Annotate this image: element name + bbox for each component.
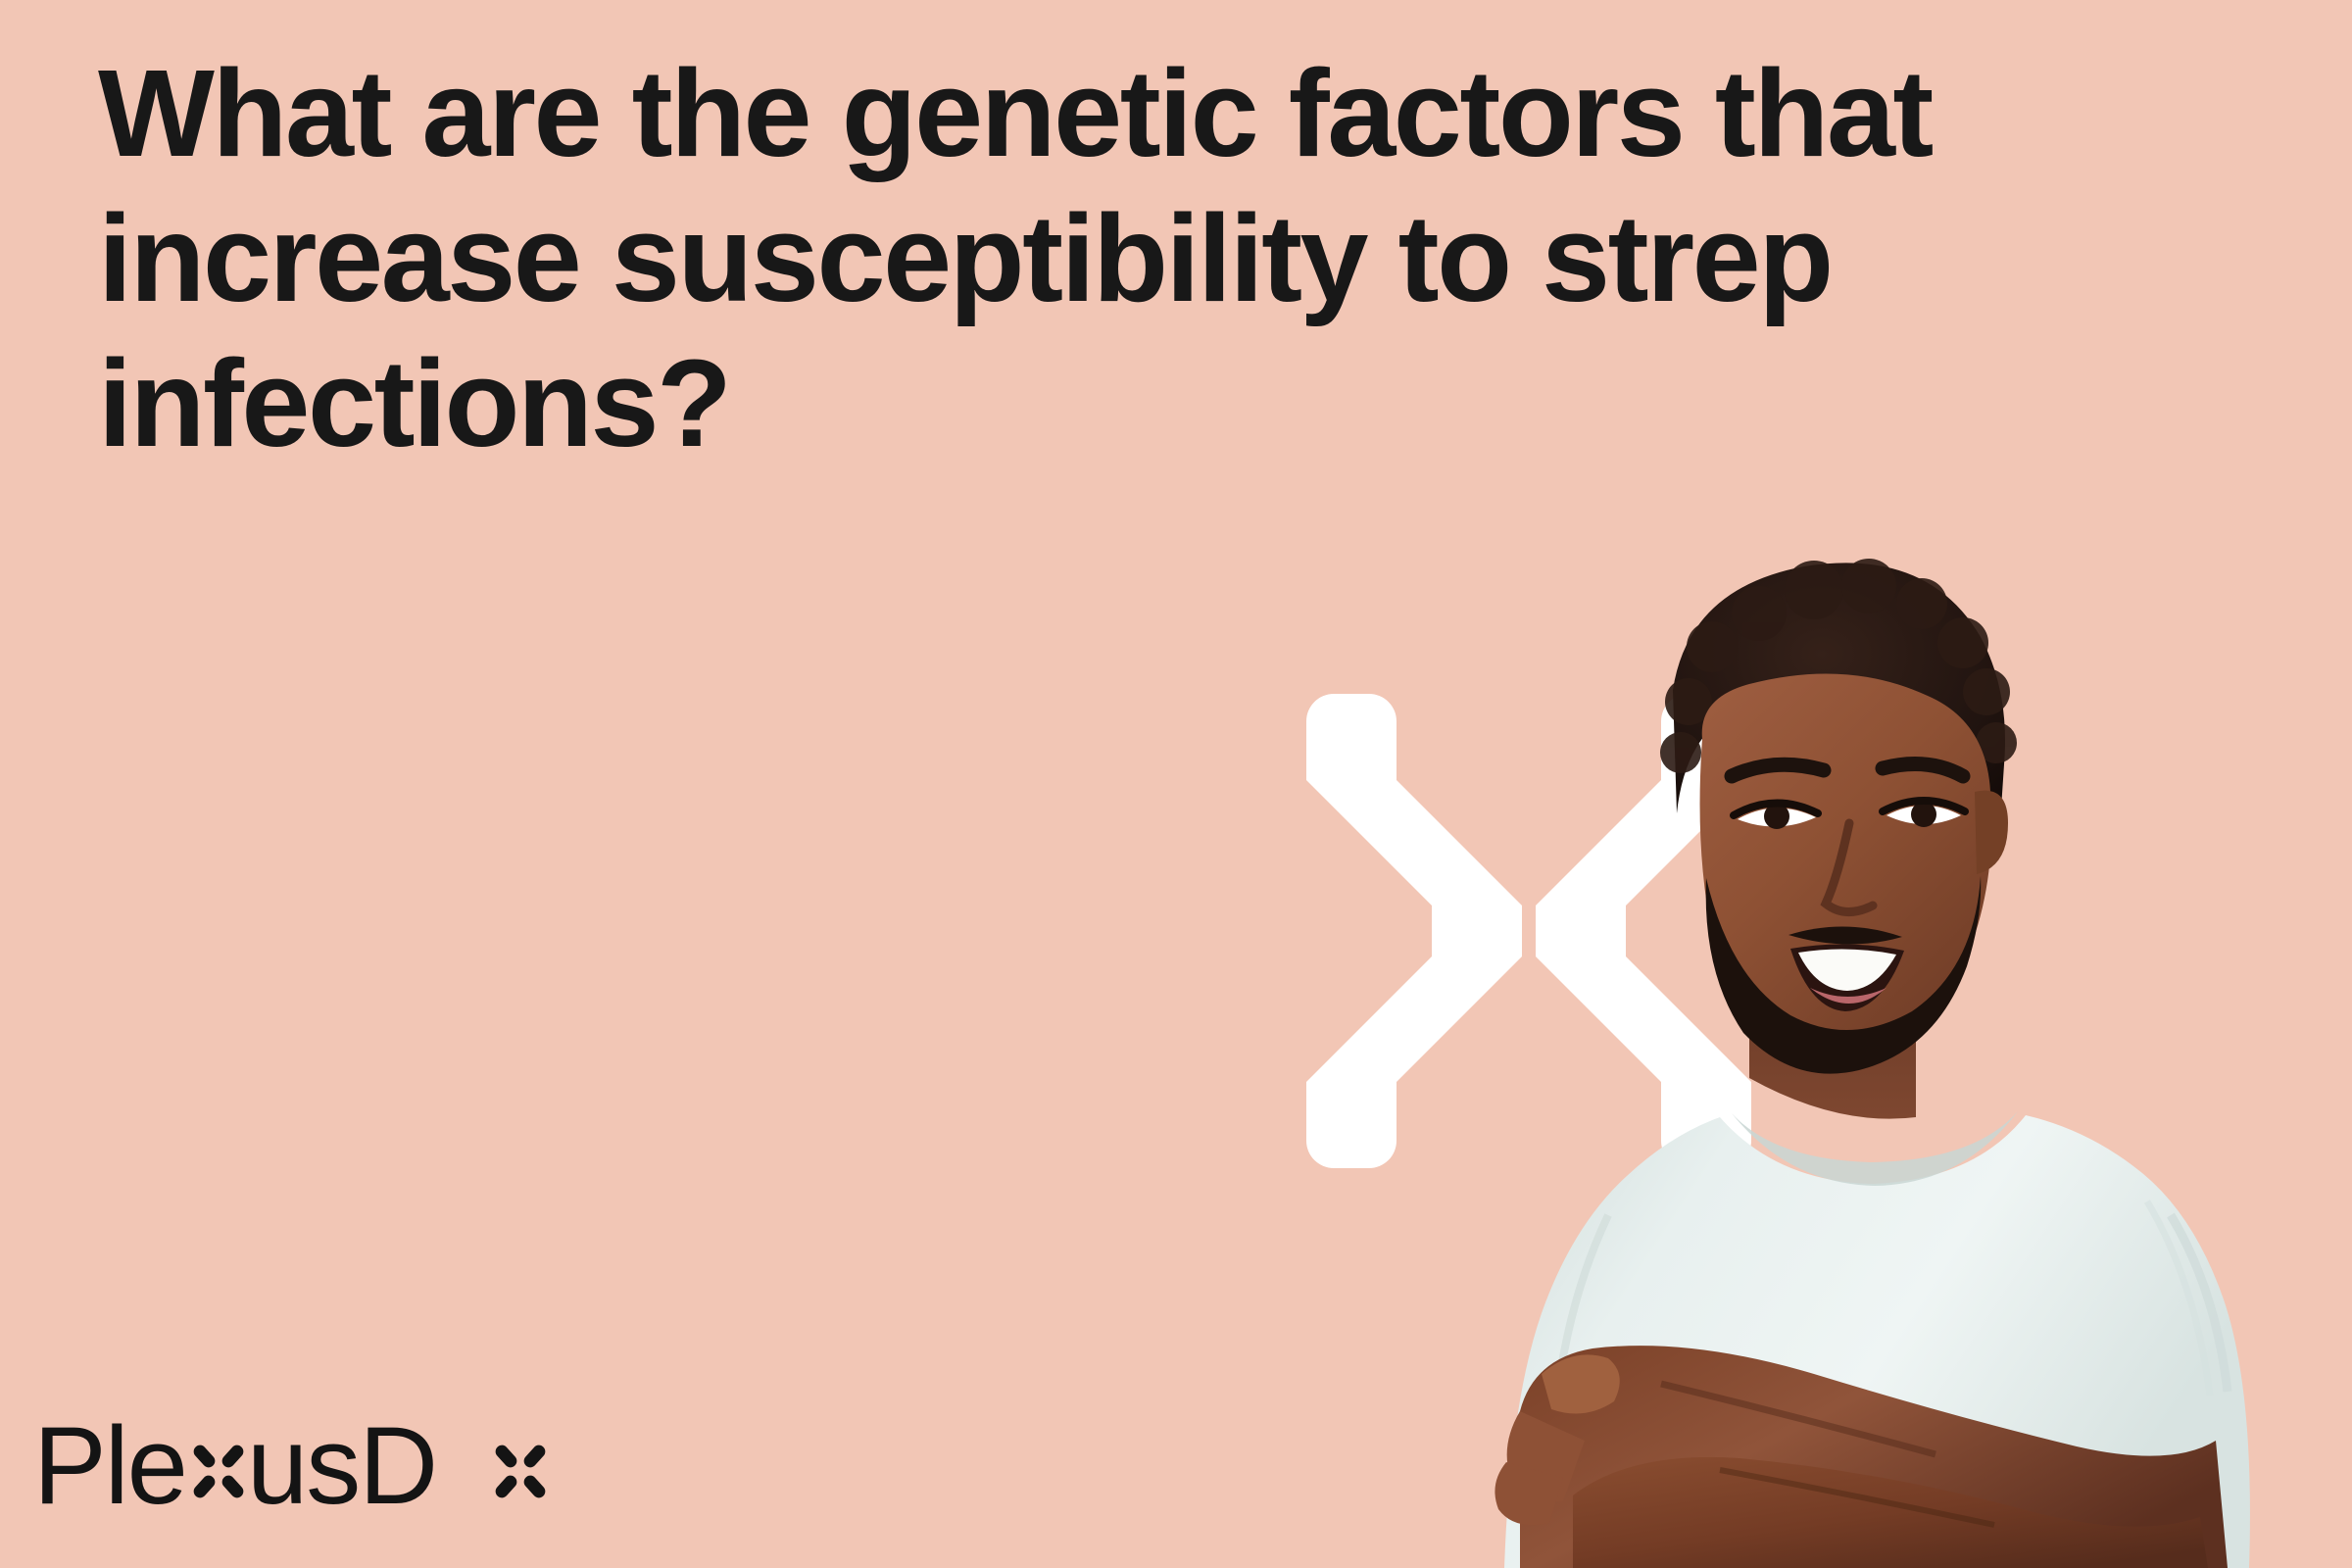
page-title: What are the genetic factors that increa… <box>98 41 2205 476</box>
logo-text-usd-suffix: usD <box>247 1409 436 1523</box>
brand-logo[interactable]: Ple usD PlexusDx <box>33 1409 621 1523</box>
subject-photo <box>1426 529 2352 1568</box>
question-card: What are the genetic factors that increa… <box>0 0 2352 1568</box>
logo-split-x-icon-1 <box>191 1443 246 1500</box>
logo-split-x-icon-2 <box>493 1443 548 1500</box>
logo-text-plexus-prefix: Ple <box>33 1409 186 1523</box>
